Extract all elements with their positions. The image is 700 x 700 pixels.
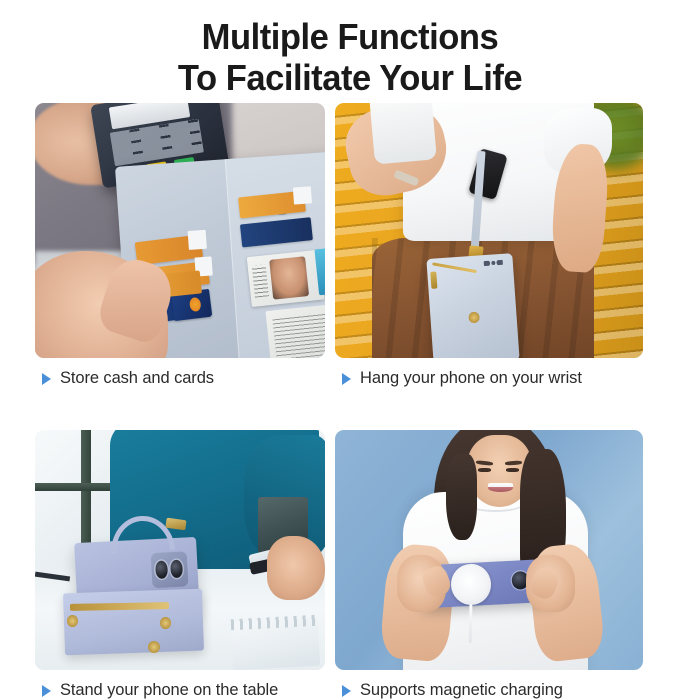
hair-side-left — [446, 454, 477, 540]
hanging-wallet-case — [427, 253, 520, 358]
eyebrow-left — [476, 460, 493, 465]
phone-case-kickstand-base — [63, 588, 204, 655]
triangle-right-icon — [342, 685, 351, 697]
triangle-right-icon — [42, 373, 51, 385]
mastercard-logo-icon — [190, 296, 203, 311]
camera-lens-1 — [154, 561, 167, 579]
eyebrow-right — [505, 460, 522, 465]
feature-row-bottom: Stand your phone on the table — [35, 430, 668, 700]
caption-stand-on-table: Stand your phone on the table — [35, 681, 325, 700]
spiral-notebook — [231, 617, 320, 669]
camera-island — [150, 552, 188, 589]
photo-store-cash-and-cards — [35, 103, 325, 358]
photo-magnetic-charging — [335, 430, 643, 670]
feature-grid: Store cash and cards — [35, 103, 668, 700]
caption-store-cash-and-cards: Store cash and cards — [35, 369, 325, 388]
eye-left — [478, 468, 490, 472]
feature-panel-hang-on-wrist[interactable]: Hang your phone on your wrist — [335, 103, 643, 388]
zipper-pull — [430, 271, 438, 289]
visa-card-icon-3 — [293, 187, 312, 205]
hand-holding-mug — [267, 536, 325, 601]
title-line-2: To Facilitate Your Life — [14, 57, 686, 98]
caption-magnetic-charging: Supports magnetic charging — [335, 681, 643, 700]
id-card-secondary — [265, 303, 325, 358]
camera-holes — [484, 260, 503, 266]
caption-text: Supports magnetic charging — [360, 681, 563, 700]
caption-text: Stand your phone on the table — [60, 681, 278, 700]
photo-hang-on-wrist — [335, 103, 643, 358]
triangle-right-icon — [42, 685, 51, 697]
magnetic-charger-puck — [450, 563, 493, 607]
feature-panel-magnetic-charging[interactable]: Supports magnetic charging — [335, 430, 643, 700]
zipper-line — [433, 262, 478, 273]
camera-lens-2 — [169, 560, 182, 578]
caption-hang-on-wrist: Hang your phone on your wrist — [335, 369, 643, 388]
smiling-mouth — [488, 483, 513, 492]
paper-cup — [369, 103, 436, 164]
page-title: Multiple Functions To Facilitate Your Li… — [0, 0, 700, 99]
id-card-with-photo — [246, 250, 324, 307]
id-portrait — [269, 257, 309, 301]
eye-right — [506, 468, 518, 472]
triangle-right-icon — [342, 373, 351, 385]
title-line-1: Multiple Functions — [14, 16, 686, 57]
rivet-3 — [148, 641, 160, 653]
window-frame-horizontal — [35, 483, 122, 491]
photo-stand-on-table — [35, 430, 325, 670]
feature-row-top: Store cash and cards — [35, 103, 668, 388]
id-text-lines — [251, 265, 269, 298]
caption-text: Hang your phone on your wrist — [360, 369, 582, 388]
feature-panel-store-cash-and-cards[interactable]: Store cash and cards — [35, 103, 325, 388]
visa-card-icon-1 — [188, 230, 207, 250]
caption-text: Store cash and cards — [60, 369, 214, 388]
snap-button — [469, 311, 481, 324]
feature-panel-stand-on-table[interactable]: Stand your phone on the table — [35, 430, 325, 700]
